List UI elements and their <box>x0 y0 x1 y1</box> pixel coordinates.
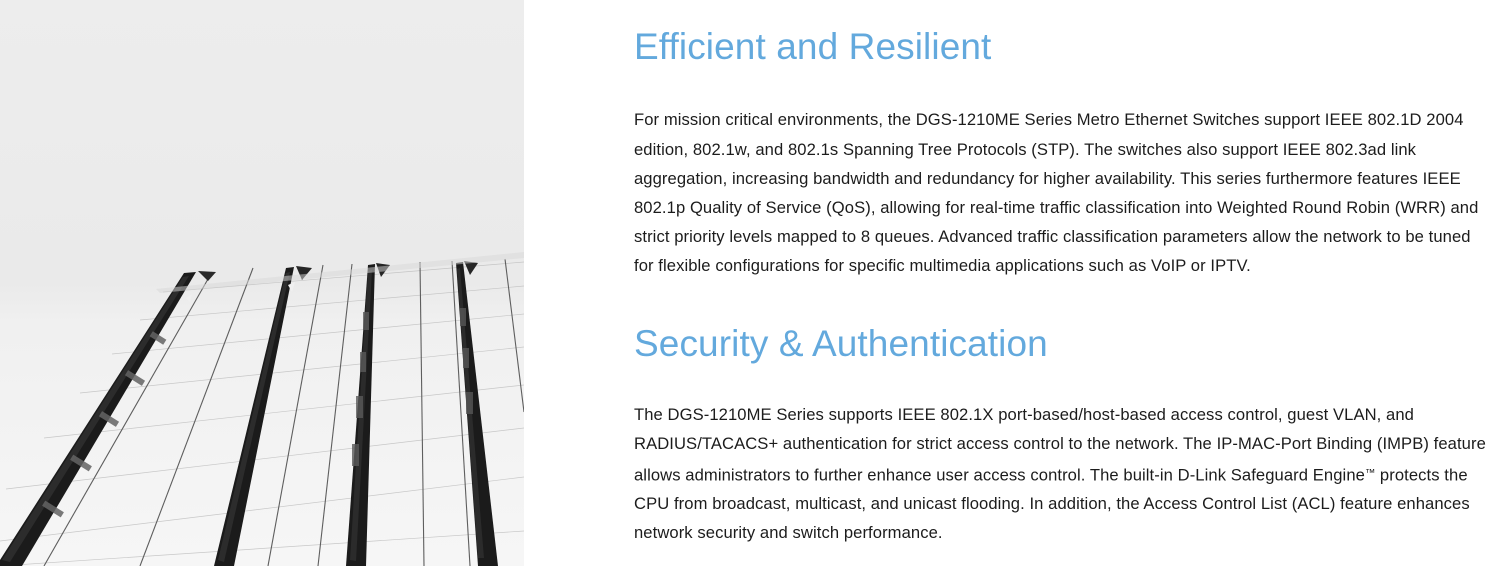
section-security-and-authentication: Security & Authentication The DGS-1210ME… <box>634 323 1489 548</box>
section-paragraph: For mission critical environments, the D… <box>634 105 1489 280</box>
section-heading: Efficient and Resilient <box>634 26 1489 67</box>
section-efficient-and-resilient: Efficient and Resilient For mission crit… <box>634 26 1489 281</box>
text-content-column: Efficient and Resilient For mission crit… <box>524 0 1499 547</box>
section-heading: Security & Authentication <box>634 323 1489 364</box>
product-feature-page: Efficient and Resilient For mission crit… <box>0 0 1499 566</box>
photo-pane <box>0 0 524 566</box>
paragraph-text-before-trademark: The DGS-1210ME Series supports IEEE 802.… <box>634 405 1486 484</box>
facade-illustration <box>0 0 524 566</box>
building-facade-photo <box>0 0 524 566</box>
trademark-symbol: ™ <box>1365 468 1375 479</box>
section-paragraph: The DGS-1210ME Series supports IEEE 802.… <box>634 400 1489 547</box>
